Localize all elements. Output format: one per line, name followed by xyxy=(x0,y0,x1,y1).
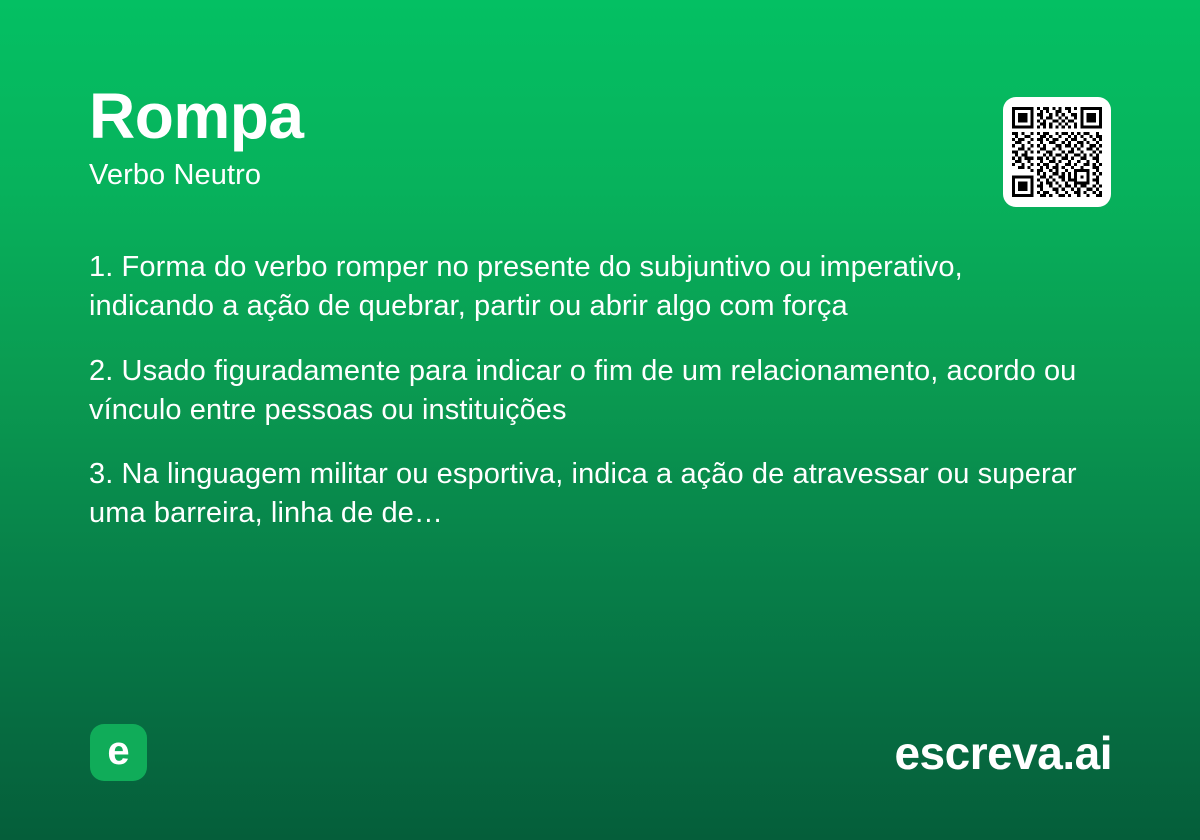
qr-code-icon[interactable] xyxy=(1003,97,1111,207)
page-title: Rompa xyxy=(89,84,969,148)
definition-item: 3. Na linguagem militar ou esportiva, in… xyxy=(89,455,1089,533)
definition-card: Rompa Verbo Neutro xyxy=(0,0,1200,840)
escreva-logo-icon: e xyxy=(90,724,147,781)
card-header: Rompa Verbo Neutro xyxy=(89,84,969,192)
part-of-speech-label: Verbo Neutro xyxy=(89,160,969,192)
brand-wordmark: escreva.ai xyxy=(894,727,1112,780)
logo-letter: e xyxy=(107,731,129,771)
definition-list: 1. Forma do verbo romper no presente do … xyxy=(89,248,1089,533)
definition-item: 1. Forma do verbo romper no presente do … xyxy=(89,248,1089,326)
definition-item: 2. Usado figuradamente para indicar o fi… xyxy=(89,352,1089,430)
